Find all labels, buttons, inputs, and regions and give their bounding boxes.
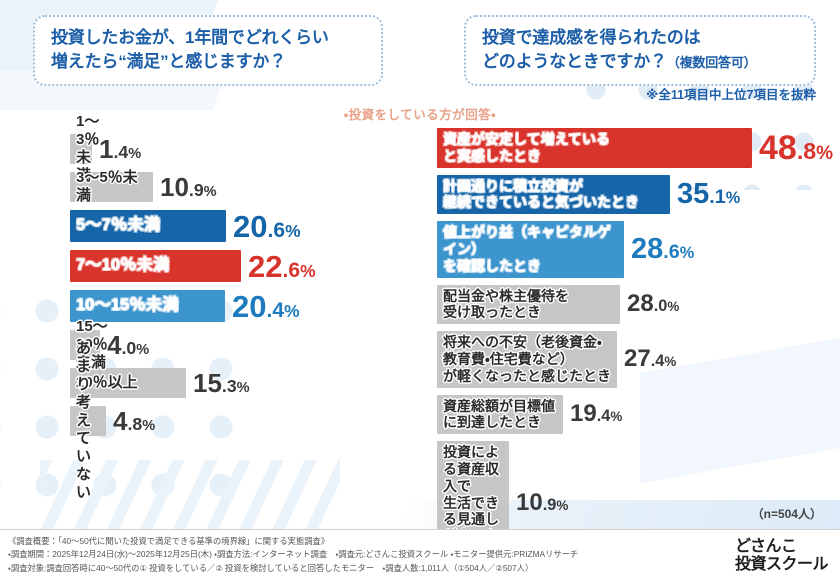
- right-question-suffix: （複数回答可）: [667, 55, 757, 70]
- bar-label: 資産が安定して増えている と実感したとき: [437, 131, 616, 165]
- bar: 1〜3％未満: [70, 134, 92, 164]
- percent-sign: %: [136, 342, 149, 358]
- value-whole: 4: [113, 406, 127, 436]
- value-whole: 20: [233, 209, 267, 244]
- value-decimal: .4: [113, 142, 128, 162]
- bar-label: 配当金や株主優待を 受け取ったとき: [437, 288, 575, 322]
- logo-line-2: 投資スクール: [735, 556, 828, 574]
- left-question-heading: 投資したお金が、1年間でどれくらい 増えたら“満足”と感じますか？: [33, 15, 383, 86]
- percent-sign: %: [726, 189, 740, 207]
- bar: 値上がり益（キャピタルゲイン） を確認したとき: [437, 221, 624, 277]
- bar: 将来への不安（老後資金・教育費・住宅費など） が軽くなったと感じたとき: [437, 331, 617, 387]
- value-whole: 28: [627, 290, 654, 317]
- chart-row: 資産総額が目標値に到達したとき19.4%: [437, 395, 837, 435]
- value-decimal: .8: [127, 414, 142, 434]
- bar-label: あまり考えていない: [70, 340, 106, 502]
- chart-row: 値上がり益（キャピタルゲイン） を確認したとき28.6%: [437, 221, 837, 277]
- percent-sign: %: [664, 354, 676, 369]
- value-whole: 15: [193, 368, 222, 398]
- value-decimal: .0: [121, 338, 136, 358]
- bar: 資産総額が目標値に到達したとき: [437, 395, 563, 435]
- percent-sign: %: [128, 146, 141, 162]
- value-decimal: .1: [709, 186, 725, 208]
- chart-row: 資産が安定して増えている と実感したとき48.8%: [437, 128, 837, 168]
- survey-line-2: ・調査期間：2025年12月24日(水)〜2025年12月25日(木) ・調査方…: [8, 548, 698, 561]
- bar-label: 値上がり益（キャピタルゲイン） を確認したとき: [437, 224, 624, 274]
- bar: 7〜10％未満: [70, 250, 241, 282]
- bar: あまり考えていない: [70, 406, 106, 436]
- bar-label: 3〜5％未満: [70, 169, 153, 205]
- bar-value: 10.9%: [516, 491, 568, 515]
- value-decimal: .4: [651, 352, 665, 370]
- bar-value: 35.1%: [677, 180, 740, 209]
- chart-row: 15〜20％未満4.0%: [70, 330, 410, 360]
- bar-value: 4.8%: [113, 408, 155, 434]
- value-whole: 27: [624, 345, 651, 372]
- right-question-heading: 投資で達成感を得られたのは どのようなときですか？（複数回答可）: [464, 15, 816, 86]
- chart-row: 5〜7％未満20.6%: [70, 210, 410, 242]
- value-whole: 10: [160, 172, 189, 202]
- chart-row: 1〜3％未満1.4%: [70, 134, 410, 164]
- survey-line-1: 《調査概要：「40〜50代に聞いた投資で満足できる基準の境界線」に関する実態調査…: [8, 535, 698, 548]
- value-decimal: .4: [266, 299, 284, 322]
- value-decimal: .6: [663, 241, 679, 263]
- value-whole: 20: [232, 289, 266, 324]
- value-whole: 28: [631, 233, 663, 265]
- bar-label: 7〜10％未満: [70, 256, 176, 276]
- chart-row: 将来への不安（老後資金・教育費・住宅費など） が軽くなったと感じたとき27.4%: [437, 331, 837, 387]
- chart-row: 配当金や株主優待を 受け取ったとき28.0%: [437, 285, 837, 325]
- bar: 5〜7％未満: [70, 210, 226, 242]
- value-decimal: .9: [189, 180, 204, 200]
- brand-logo: どさんこ 投資スクール: [735, 538, 828, 574]
- chart-row: 3〜5％未満10.9%: [70, 172, 410, 202]
- chart-row: 20％以上15.3%: [70, 368, 410, 398]
- bar-value: 20.6%: [233, 211, 301, 242]
- bar: 配当金や株主優待を 受け取ったとき: [437, 285, 620, 325]
- bar-value: 28.6%: [631, 235, 694, 264]
- left-bar-chart: 1〜3％未満1.4%3〜5％未満10.9%5〜7％未満20.6%7〜10％未満2…: [70, 134, 410, 444]
- bar-value: 15.3%: [193, 370, 250, 396]
- sample-size-note: （n=504人）: [752, 505, 822, 522]
- percent-sign: %: [284, 301, 299, 321]
- bar-label: 資産総額が目標値に到達したとき: [437, 398, 563, 432]
- bar-value: 19.4%: [570, 402, 622, 426]
- bar-value: 28.0%: [627, 292, 679, 316]
- chart-row: 計画通りに積立投資が 継続できていると気づいたとき35.1%: [437, 175, 837, 215]
- percent-sign: %: [610, 409, 622, 424]
- value-decimal: .4: [597, 407, 611, 425]
- bar-label: 5〜7％未満: [70, 216, 166, 236]
- value-decimal: .6: [267, 219, 285, 242]
- chart-row: 7〜10％未満22.6%: [70, 250, 410, 282]
- value-decimal: .9: [543, 496, 557, 514]
- bar-value: 20.4%: [232, 291, 300, 322]
- value-whole: 22: [248, 249, 282, 284]
- bar: 計画通りに積立投資が 継続できていると気づいたとき: [437, 175, 670, 215]
- bar-value: 27.4%: [624, 347, 676, 371]
- value-whole: 19: [570, 400, 597, 427]
- bar-label: 計画通りに積立投資が 継続できていると気づいたとき: [437, 178, 645, 212]
- bar-value: 10.9%: [160, 174, 217, 200]
- footer: 《調査概要：「40〜50代に聞いた投資で満足できる基準の境界線」に関する実態調査…: [0, 529, 840, 582]
- percent-sign: %: [680, 244, 694, 262]
- value-whole: 35: [677, 178, 709, 210]
- infographic-page: 投資したお金が、1年間でどれくらい 増えたら“満足”と感じますか？ 投資で達成感…: [0, 0, 840, 582]
- value-whole: 10: [516, 489, 543, 516]
- chart-row: あまり考えていない4.8%: [70, 406, 410, 436]
- respondent-note: ・投資をしている方が回答・: [0, 104, 840, 123]
- bar-label: 将来への不安（老後資金・教育費・住宅費など） が軽くなったと感じたとき: [437, 334, 617, 384]
- percent-sign: %: [204, 184, 217, 200]
- percent-sign: %: [816, 143, 833, 164]
- value-decimal: .0: [654, 297, 668, 315]
- right-excerpt-note: ※全11項目中上位7項目を抜粋: [464, 84, 816, 103]
- percent-sign: %: [300, 261, 315, 281]
- survey-line-3: ・調査対象:調査回答時に40〜50代の① 投資をしている／② 投資を検討している…: [8, 562, 698, 575]
- percent-sign: %: [237, 380, 250, 396]
- bar-value: 48.8%: [759, 131, 833, 165]
- value-decimal: .6: [282, 259, 300, 282]
- percent-sign: %: [285, 221, 300, 241]
- bar: 資産が安定して増えている と実感したとき: [437, 128, 752, 168]
- value-decimal: .8: [797, 138, 816, 164]
- percent-sign: %: [142, 418, 155, 434]
- logo-line-1: どさんこ: [735, 538, 828, 556]
- bar-label: 10〜15％未満: [70, 296, 185, 316]
- bar-value: 22.6%: [248, 251, 316, 282]
- value-decimal: .3: [222, 376, 237, 396]
- percent-sign: %: [667, 299, 679, 314]
- bar: 3〜5％未満: [70, 172, 153, 202]
- value-whole: 48: [759, 129, 797, 167]
- chart-row: 10〜15％未満20.4%: [70, 290, 410, 322]
- survey-methodology-text: 《調査概要：「40〜50代に聞いた投資で満足できる基準の境界線」に関する実態調査…: [8, 535, 698, 575]
- percent-sign: %: [556, 498, 568, 513]
